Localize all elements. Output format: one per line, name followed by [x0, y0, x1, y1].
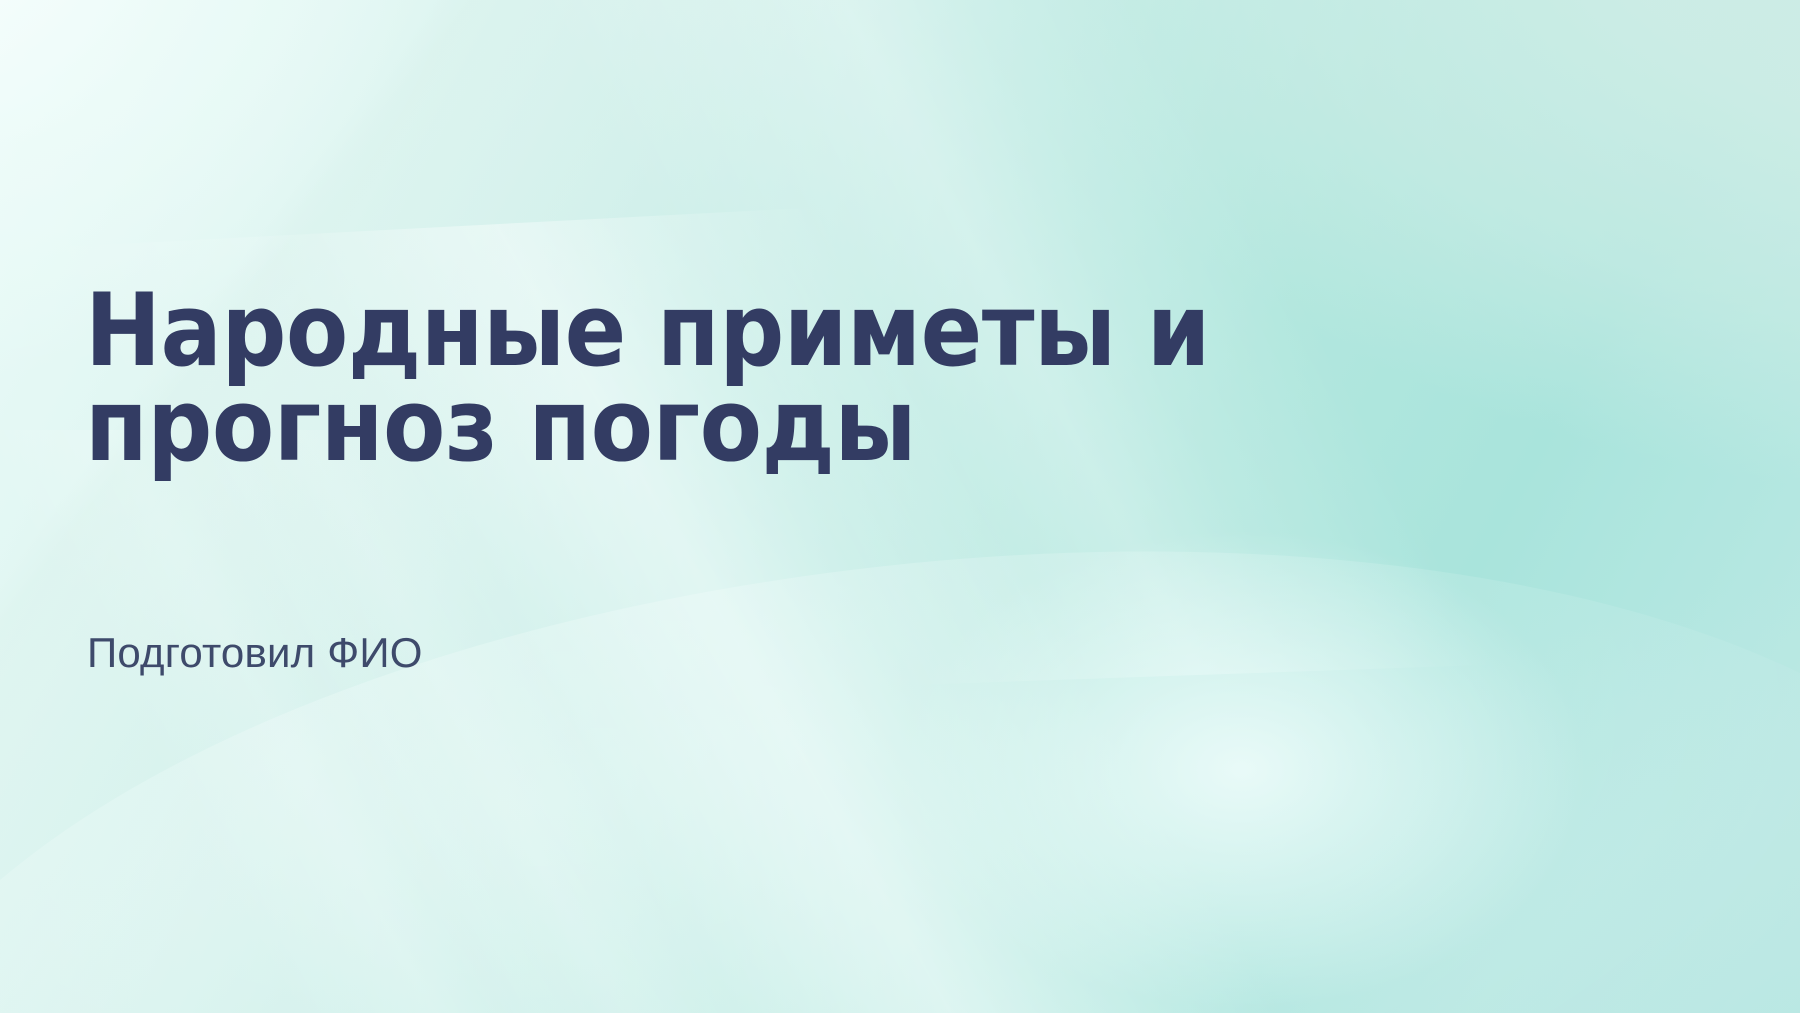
slide-subtitle-author: Подготовил ФИО	[87, 628, 423, 678]
title-slide: Народные приметы и прогноз погоды Подгот…	[0, 0, 1800, 1013]
slide-text-block: Народные приметы и прогноз погоды Подгот…	[85, 0, 1505, 1013]
slide-title: Народные приметы и прогноз погоды	[85, 283, 1485, 473]
